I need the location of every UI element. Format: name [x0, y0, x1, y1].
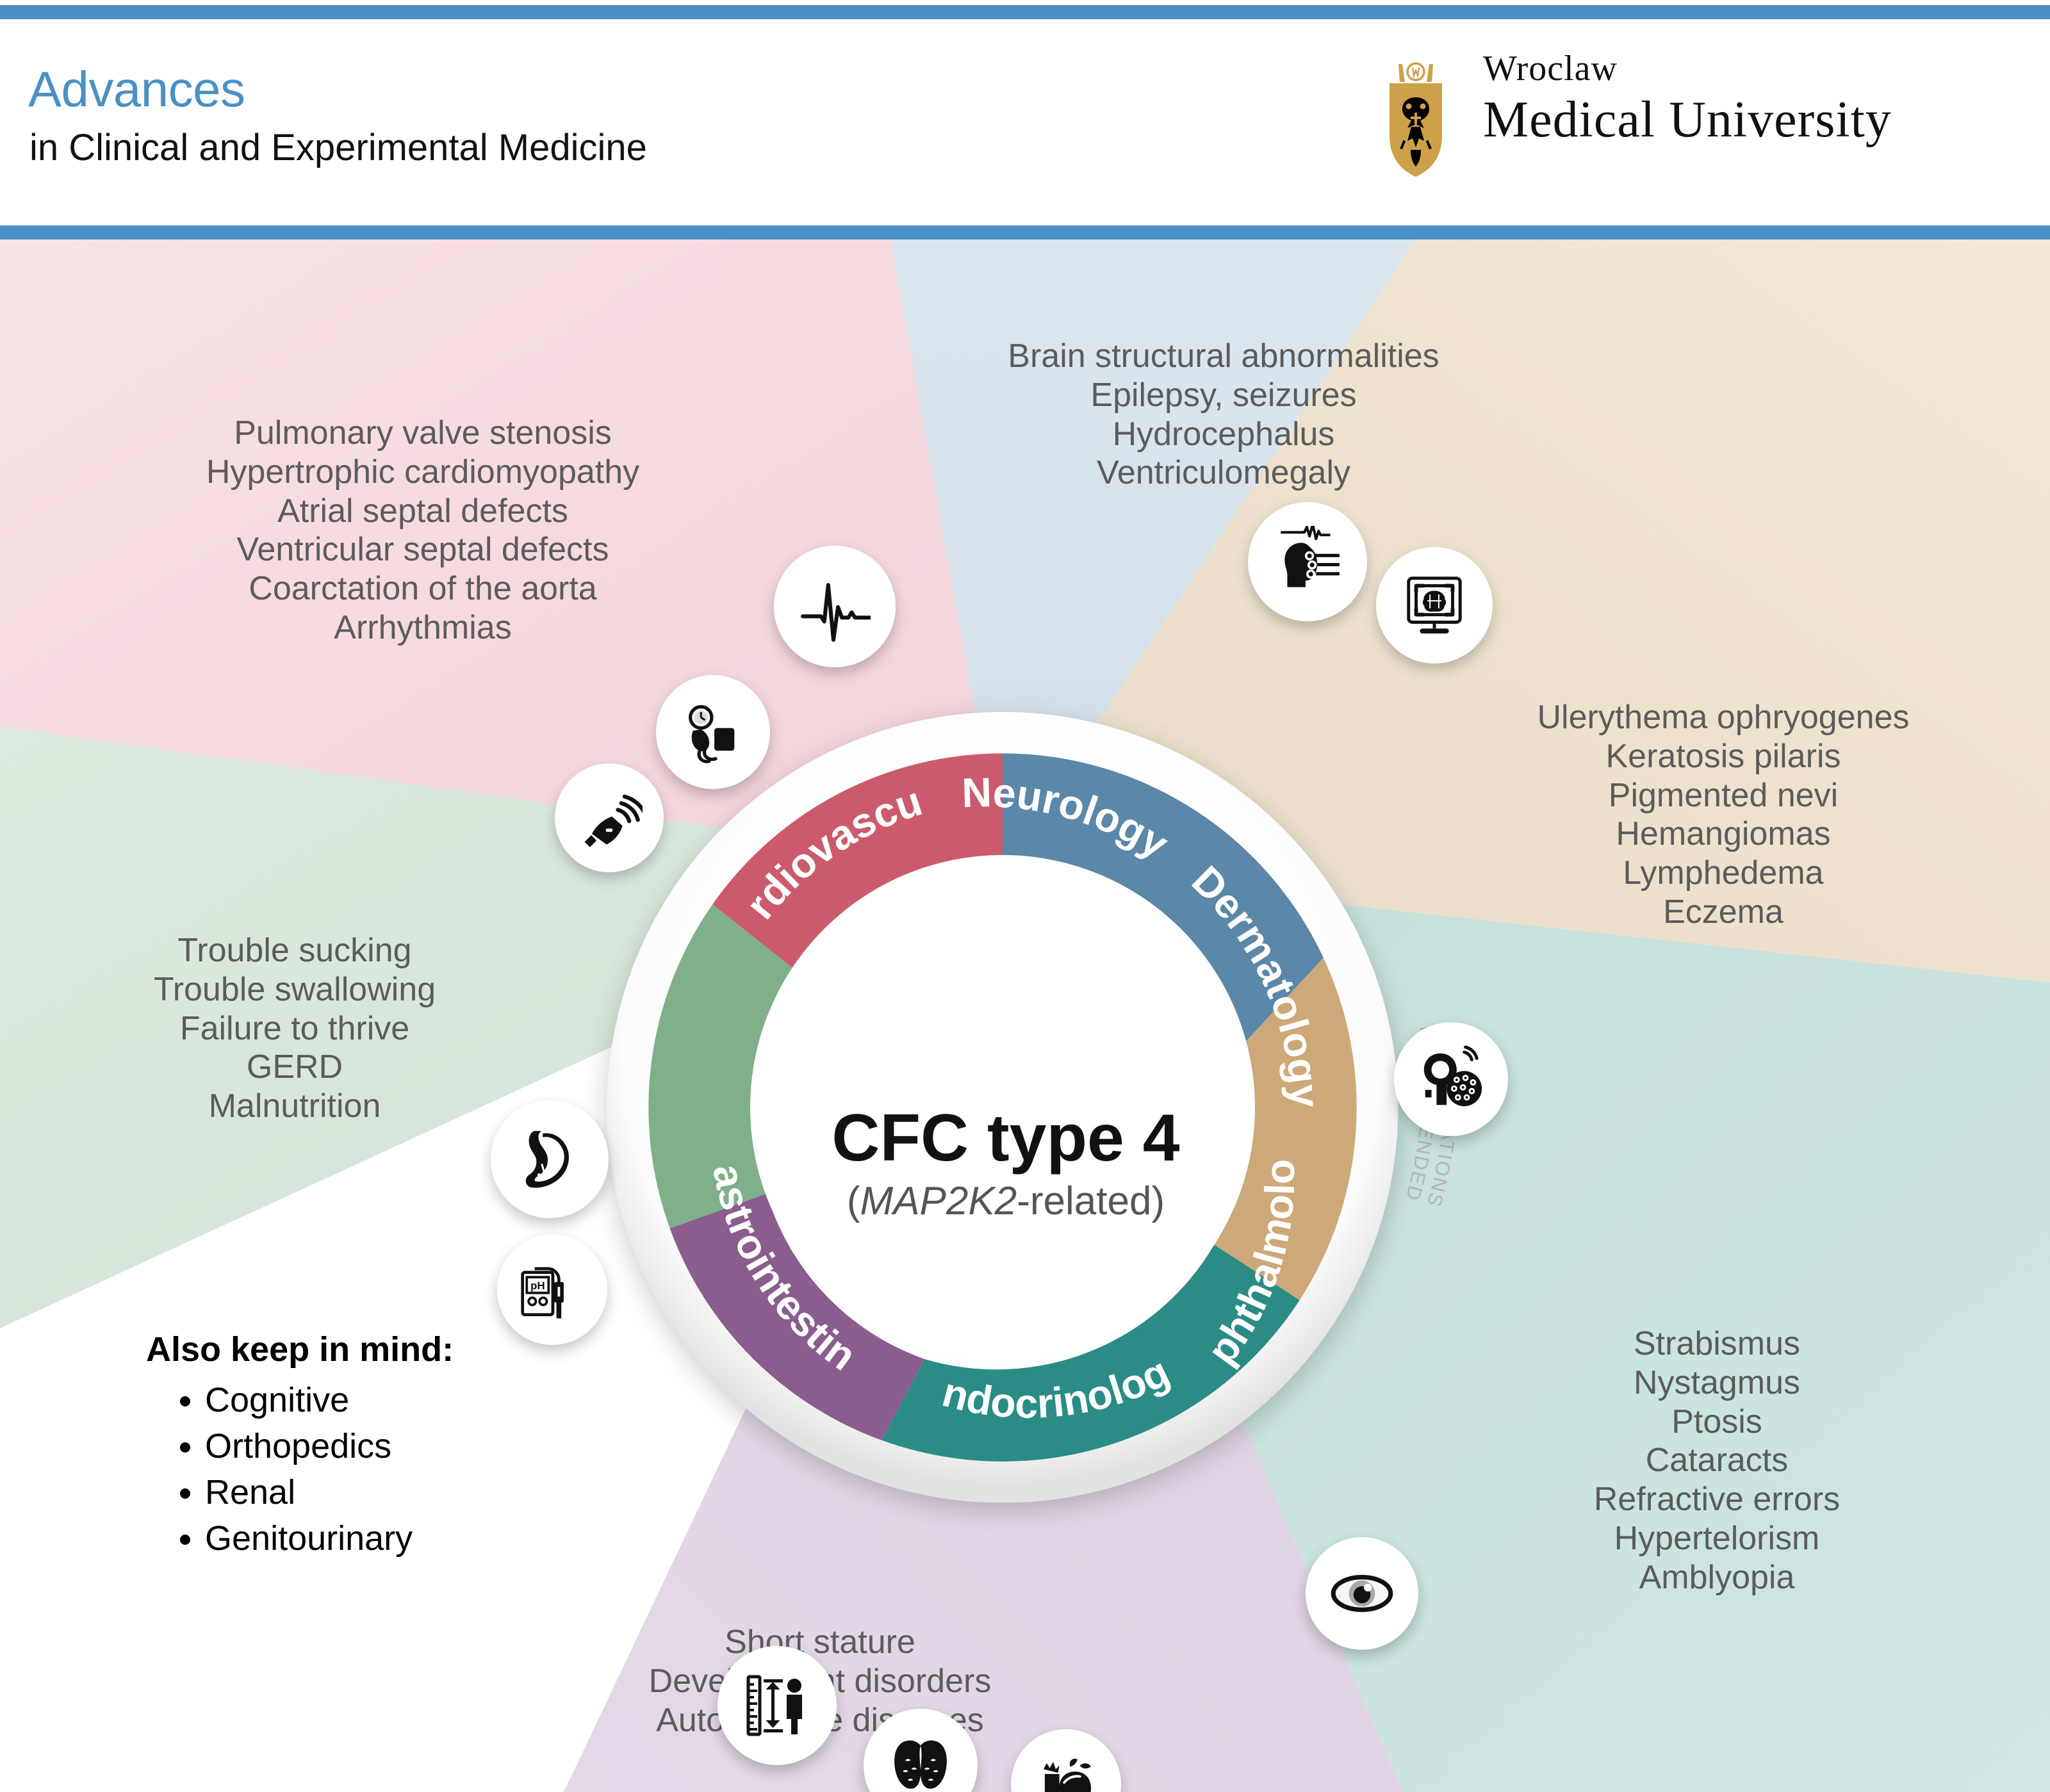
wroclaw-shield-icon: [1374, 60, 1457, 179]
journal-title: Advances: [28, 64, 245, 114]
header-top-rule: [0, 5, 2050, 19]
height-measure-icon[interactable]: [717, 1646, 837, 1765]
dermatoscope-icon[interactable]: [1394, 1022, 1508, 1136]
wheel-inner-disc: [750, 855, 1255, 1360]
findings-dermatology: Ulerythema ophryogenes Keratosis pilaris…: [1480, 698, 1967, 932]
ph-meter-icon[interactable]: pH: [497, 1235, 607, 1345]
header-bottom-rule: [0, 225, 2050, 240]
infographic-root: Advances in Clinical and Experimental Me…: [0, 0, 2050, 1792]
logo-line-1: Wroclaw: [1483, 50, 1892, 88]
eye-icon[interactable]: [1306, 1537, 1418, 1650]
svg-text:pH: pH: [530, 1280, 545, 1292]
findings-cardiovascular: Pulmonary valve stenosis Hypertrophic ca…: [147, 414, 698, 648]
blood-pressure-cuff-icon[interactable]: [656, 675, 770, 789]
university-logo: Wroclaw Medical University: [1374, 46, 2021, 181]
eeg-head-icon[interactable]: [1248, 502, 1367, 621]
findings-gastrointestinal: Trouble sucking Trouble swallowing Failu…: [115, 931, 474, 1126]
stomach-icon[interactable]: [491, 1100, 609, 1218]
findings-neurology: Brain structural abnormalities Epilepsy,…: [948, 337, 1499, 493]
logo-line-2: Medical University: [1483, 93, 1892, 147]
findings-ophthalmology: Strabismus Nystagmus Ptosis Cataracts Re…: [1473, 1324, 1960, 1597]
brain-mri-monitor-icon[interactable]: [1376, 547, 1493, 664]
diagram-canvas: Pulmonary valve stenosis Hypertrophic ca…: [0, 240, 2050, 1792]
specialty-wheel: Cardiovascular Neurology Dermatology Oph…: [532, 637, 1473, 1578]
journal-subtitle: in Clinical and Experimental Medicine: [29, 129, 647, 167]
ultrasound-probe-icon[interactable]: [555, 763, 664, 872]
ecg-trace-icon[interactable]: [774, 546, 896, 667]
